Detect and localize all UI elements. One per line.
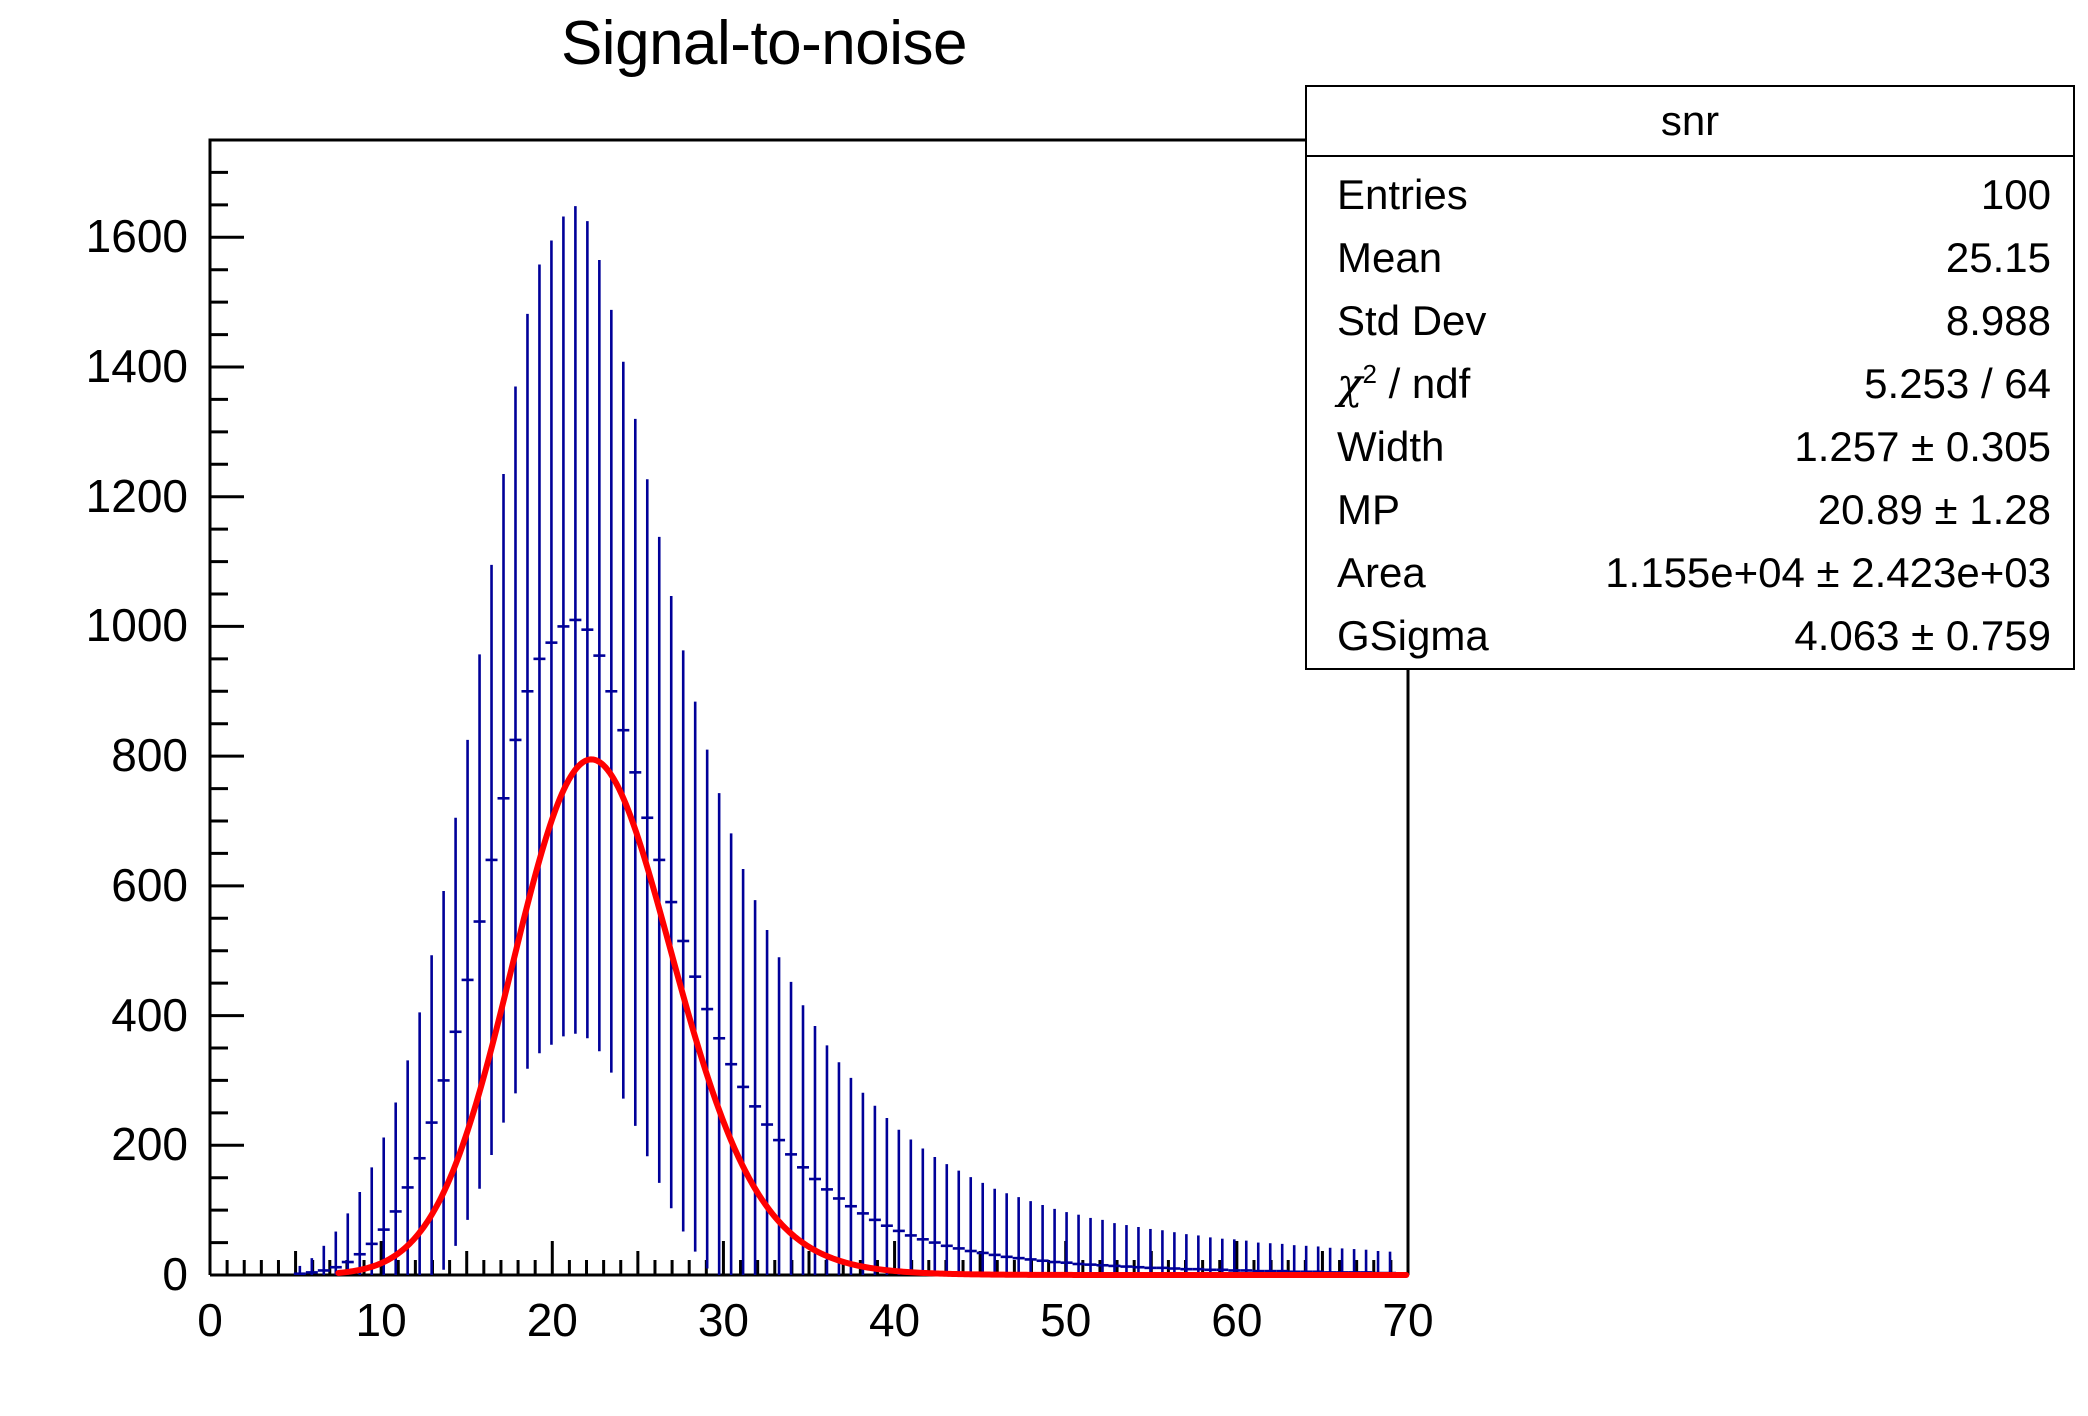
stats-row: Area1.155e+04 ± 2.423e+03	[1337, 541, 2051, 604]
plot-frame-border	[210, 140, 1408, 1275]
stats-row: Mean25.15	[1337, 226, 2051, 289]
stats-row-label: GSigma	[1337, 604, 1489, 667]
x-axis-tick-label: 0	[130, 1297, 290, 1343]
x-axis-tick-label: 20	[472, 1297, 632, 1343]
stats-row-label: Area	[1337, 541, 1426, 604]
y-axis-tick-label: 1400	[0, 343, 188, 389]
y-axis-tick-label: 1000	[0, 602, 188, 648]
stats-row-value: 1.155e+04 ± 2.423e+03	[1605, 541, 2051, 604]
stats-row-label: Entries	[1337, 163, 1468, 226]
chi-suffix: / ndf	[1377, 360, 1470, 407]
x-axis-tick-label: 40	[815, 1297, 975, 1343]
x-axis-tick-label: 60	[1157, 1297, 1317, 1343]
stats-row: MP20.89 ± 1.28	[1337, 478, 2051, 541]
fit-curve-langaus	[338, 759, 1406, 1275]
x-axis-tick-label: 10	[301, 1297, 461, 1343]
y-axis-tick-label: 800	[0, 732, 188, 778]
stats-row-value: 4.063 ± 0.759	[1794, 604, 2051, 667]
stats-row: χ2 / ndf5.253 / 64	[1337, 352, 2051, 415]
data-series-snr	[294, 0, 1402, 1275]
y-axis-tick-label: 200	[0, 1121, 188, 1167]
stats-row-label: Width	[1337, 415, 1444, 478]
y-axis-tick-label: 400	[0, 992, 188, 1038]
stats-row-label: MP	[1337, 478, 1400, 541]
root-canvas: Signal-to-noise snr Entries100Mean25.15S…	[0, 0, 2088, 1416]
y-axis-tick-label: 600	[0, 862, 188, 908]
stats-row: GSigma4.063 ± 0.759	[1337, 604, 2051, 667]
x-axis-tick-label: 50	[986, 1297, 1146, 1343]
stats-row: Std Dev8.988	[1337, 289, 2051, 352]
stats-row-value: 5.253 / 64	[1864, 352, 2051, 415]
y-axis-tick-label: 1600	[0, 213, 188, 259]
stats-row-label: Std Dev	[1337, 289, 1486, 352]
stats-row-value: 25.15	[1946, 226, 2051, 289]
stats-rows: Entries100Mean25.15Std Dev8.988χ2 / ndf5…	[1307, 157, 2073, 667]
x-axis-tick-label: 30	[643, 1297, 803, 1343]
stats-row-label: χ2 / ndf	[1337, 352, 1470, 415]
y-axis-tick-label: 1200	[0, 473, 188, 519]
chi-symbol: χ	[1337, 359, 1362, 408]
stats-title: snr	[1307, 87, 2073, 157]
stats-row: Entries100	[1337, 163, 2051, 226]
y-axis-tick-label: 0	[0, 1251, 188, 1297]
chi-exponent: 2	[1362, 359, 1376, 389]
stats-row-value: 8.988	[1946, 289, 2051, 352]
stats-row: Width1.257 ± 0.305	[1337, 415, 2051, 478]
stats-row-value: 20.89 ± 1.28	[1818, 478, 2051, 541]
stats-row-value: 100	[1981, 163, 2051, 226]
stats-row-value: 1.257 ± 0.305	[1794, 415, 2051, 478]
x-axis-tick-label: 70	[1328, 1297, 1488, 1343]
stats-box[interactable]: snr Entries100Mean25.15Std Dev8.988χ2 / …	[1305, 85, 2075, 670]
stats-row-label: Mean	[1337, 226, 1442, 289]
